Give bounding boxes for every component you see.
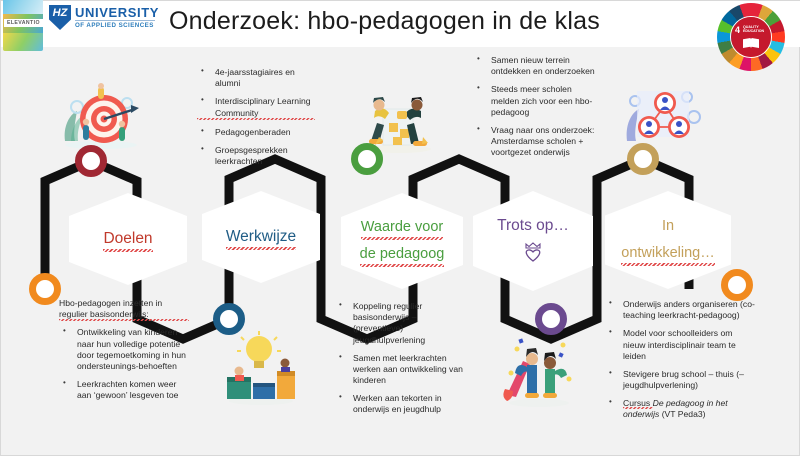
list-item: 4e-jaarsstagiaires en alumni — [197, 67, 315, 89]
hexagon-ontwikkeling[interactable]: In ontwikkeling… — [605, 191, 731, 289]
course-suffix: (VT Peda3) — [659, 409, 705, 419]
text-block-doelen-bottom: Hbo-pedagogen inzetten in regulier basis… — [59, 298, 189, 408]
elevantio-wordmark: ELEVANTIO — [4, 19, 43, 27]
celebration-illustration — [497, 329, 581, 409]
list-item: Samen met leerkrachten werken aan ontwik… — [335, 353, 463, 387]
hexagon-doelen[interactable]: Doelen — [69, 193, 187, 285]
list-item: Samen nieuw terrein ontdekken en onderzo… — [473, 55, 601, 77]
list-item: Interdisciplinary Learning Community — [197, 96, 315, 119]
text-block-trots-top: Samen nieuw terrein ontdekken en onderzo… — [473, 55, 601, 165]
list-item: Vraag naar ons onderzoek: Amsterdamse sc… — [473, 125, 601, 159]
node-trots-bottom[interactable] — [535, 303, 567, 335]
node-waarde-top[interactable] — [351, 143, 383, 175]
text-block-werkwijze-top: 4e-jaarsstagiaires en alumni Interdiscip… — [197, 67, 315, 174]
node-doelen-bottom[interactable] — [29, 273, 61, 305]
crowned-heart-icon — [522, 242, 544, 267]
text-block-ontwikkeling-bottom: Onderwijs anders organiseren (co-teachin… — [605, 299, 755, 428]
course-prefix: Cursus — [623, 398, 653, 409]
sdg-label: QUALITY EDUCATION — [743, 25, 767, 33]
node-ontwikkeling-top[interactable] — [627, 143, 659, 175]
list-item: Werken aan tekorten in onderwijs en jeug… — [335, 393, 463, 415]
target-illustration — [57, 83, 145, 153]
sdg-number: 4 — [735, 25, 740, 35]
list-item: Model voor schoolleiders om nieuw interd… — [605, 328, 755, 362]
node-ontwikkeling-bottom[interactable] — [721, 269, 753, 301]
list-item: Pedagogenberaden — [197, 127, 315, 138]
hexagon-waarde-label-line2: de pedagoog — [360, 244, 445, 265]
page-title: Onderzoek: hbo-pedagogen in de klas — [169, 7, 689, 36]
text-block-header: Hbo-pedagogen inzetten in regulier basis… — [59, 298, 189, 321]
list-item: Onderwijs anders organiseren (co-teachin… — [605, 299, 755, 321]
hexagon-ontwikkeling-label-line2: ontwikkeling… — [621, 243, 715, 264]
list-item: Steeds meer scholen melden zich voor een… — [473, 84, 601, 118]
sdg-wheel-logo: 4 QUALITY EDUCATION — [717, 3, 785, 71]
list-item: Leerkrachten komen weer aan ‘gewoon’ les… — [59, 379, 189, 401]
hexagon-ontwikkeling-label-line1: In — [662, 216, 674, 237]
hexagon-trots-label: Trots op… — [497, 215, 569, 237]
network-illustration — [621, 83, 703, 155]
list-item: Koppeling regulier basisonderwijs – (pre… — [335, 301, 463, 346]
slide-canvas: ELEVANTIO HZ UNIVERSITY OF APPLIED SCIEN… — [0, 0, 800, 456]
lightbulb-illustration — [219, 331, 303, 407]
hz-university-logo: HZ UNIVERSITY OF APPLIED SCIENCES — [49, 4, 157, 34]
sdg-goal-4-badge: 4 QUALITY EDUCATION — [731, 17, 771, 57]
list-item-course: Cursus De pedagoog in het onderwijs (VT … — [605, 398, 755, 420]
elevantio-tile-1 — [3, 0, 43, 14]
list-item: Ontwikkeling van kinderen naar hun volle… — [59, 327, 189, 372]
hz-logo-line1: UNIVERSITY — [75, 5, 159, 20]
hexagon-doelen-label: Doelen — [103, 228, 152, 250]
hexagon-trots[interactable]: Trots op… — [473, 191, 593, 291]
node-werkwijze-bottom[interactable] — [213, 303, 245, 335]
hexagon-waarde-label-line1: Waarde voor — [361, 217, 443, 238]
hexagon-werkwijze[interactable]: Werkwijze — [202, 191, 320, 283]
elevantio-tile-3 — [3, 33, 43, 51]
elevantio-logo: ELEVANTIO — [3, 0, 43, 51]
hz-logo-divider — [75, 20, 155, 21]
text-block-waarde-bottom: Koppeling regulier basisonderwijs – (pre… — [335, 301, 463, 423]
hz-shield-icon: HZ — [49, 5, 71, 30]
hexagon-waarde[interactable]: Waarde voor de pedagoog — [341, 193, 463, 289]
list-item: Groepsgesprekken leerkrachten — [197, 145, 315, 167]
hexagon-werkwijze-label: Werkwijze — [226, 226, 296, 248]
hz-logo-line2: OF APPLIED SCIENCES — [75, 22, 154, 29]
node-doelen-top[interactable] — [75, 145, 107, 177]
open-book-icon — [743, 38, 759, 48]
list-item: Stevigere brug school – thuis (–jeugdhul… — [605, 369, 755, 391]
